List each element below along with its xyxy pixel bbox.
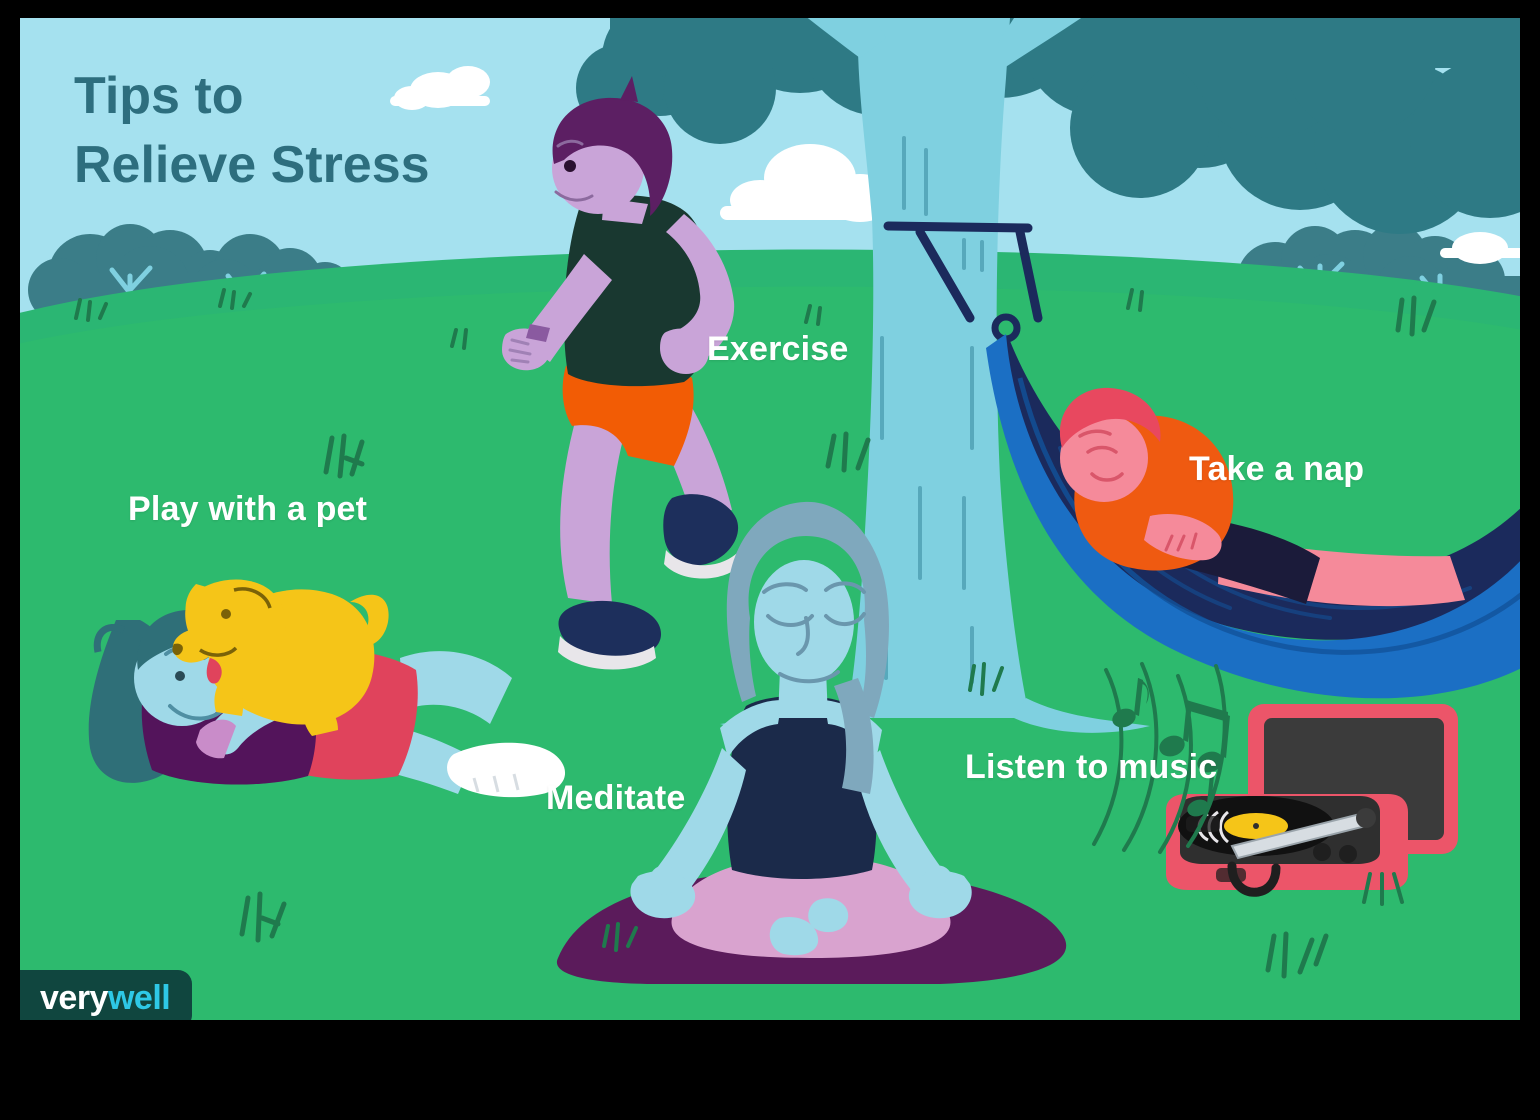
label-take-a-nap: Take a nap [1189, 450, 1364, 489]
illustration-area: Tips to Relieve Stress Exercise Play wit… [20, 18, 1520, 1020]
dog-eye [221, 609, 231, 619]
label-meditate: Meditate [546, 779, 686, 818]
verywell-logo[interactable]: verywell [20, 970, 192, 1020]
vinyl-record-spindle [1253, 823, 1259, 829]
pet-owner-eye [175, 671, 185, 681]
meditator-foot-right [808, 898, 848, 932]
logo-text-well: well [108, 979, 170, 1017]
page-title: Tips to Relieve Stress [74, 62, 430, 199]
label-play-with-a-pet: Play with a pet [128, 490, 367, 529]
runner-eye [564, 160, 576, 172]
logo-text-very: very [40, 979, 108, 1017]
record-player-knob-1 [1313, 843, 1331, 861]
label-listen-to-music: Listen to music [965, 748, 1217, 787]
label-exercise: Exercise [707, 330, 849, 369]
infographic-canvas: Tips to Relieve Stress Exercise Play wit… [0, 0, 1540, 1120]
record-player-knob-2 [1339, 845, 1357, 863]
tonearm-pivot [1356, 808, 1376, 828]
